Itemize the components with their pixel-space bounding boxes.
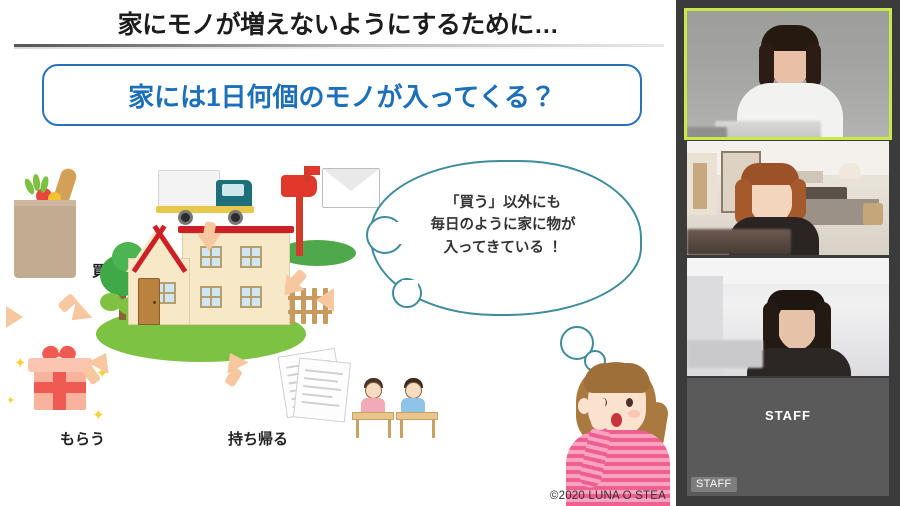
participant-2-hair-right bbox=[792, 179, 806, 219]
slide-title: 家にモノが増えないようにするために… bbox=[0, 4, 676, 42]
truck-cargo bbox=[158, 170, 220, 208]
room-stool bbox=[863, 203, 883, 225]
window-upper-right bbox=[240, 246, 262, 268]
participant-tile-2[interactable] bbox=[687, 141, 889, 255]
desk-1-leg-r bbox=[388, 420, 391, 438]
mailbox-body bbox=[281, 175, 317, 197]
desk-1-leg-l bbox=[356, 420, 359, 438]
truck-wheel-rear bbox=[178, 210, 193, 225]
desk-2-leg-r bbox=[432, 420, 435, 438]
desk-2-leg-l bbox=[400, 420, 403, 438]
participant-3-video bbox=[687, 258, 889, 376]
participant-tile-3[interactable] bbox=[687, 258, 889, 376]
participant-1-video bbox=[687, 11, 889, 137]
desk-2-top bbox=[396, 412, 438, 420]
thought-bubble-text: 「買う」以外にも 毎日のように家に物が 入ってきている ！ bbox=[378, 192, 628, 259]
participant-1-hair-right bbox=[806, 43, 821, 87]
window-lower-left bbox=[200, 286, 222, 308]
paper-sheet-front bbox=[293, 357, 351, 422]
house-door bbox=[138, 278, 160, 325]
girl-mouth bbox=[611, 413, 622, 427]
girl-cheek-right bbox=[628, 410, 640, 418]
label-bring-home: 持ち帰る bbox=[228, 428, 288, 449]
house-eave bbox=[178, 226, 294, 233]
truck-wheel-front bbox=[228, 210, 243, 225]
title-divider-shadow bbox=[14, 47, 664, 49]
participant-tile-1[interactable] bbox=[687, 11, 889, 137]
question-box-text: 家には1日何個のモノが入ってくる？ bbox=[128, 77, 556, 114]
girl-eye-right bbox=[626, 398, 633, 407]
presentation-slide: 家にモノが増えないようにするために… 家には1日何個のモノが入ってくる？ 買う bbox=[0, 0, 676, 506]
participant-3-laptop bbox=[687, 340, 763, 368]
illustration-canvas: 買う 届く bbox=[0, 130, 676, 506]
participant-1-desk bbox=[687, 127, 727, 137]
participant-1-hair-left bbox=[759, 43, 774, 87]
girl-bangs bbox=[584, 363, 650, 393]
bubble-line-2: 毎日のように家に物が bbox=[378, 214, 628, 236]
screen-root: 家にモノが増えないようにするために… 家には1日何個のモノが入ってくる？ 買う bbox=[0, 0, 900, 506]
participant-2-video bbox=[687, 141, 889, 255]
bubble-line-1: 「買う」以外にも bbox=[378, 192, 628, 214]
bubble-line-3: 入ってきている ！ bbox=[378, 237, 628, 259]
truck-window bbox=[222, 184, 244, 196]
room-lamp bbox=[839, 163, 861, 179]
desk-1-top bbox=[352, 412, 394, 420]
question-box: 家には1日何個のモノが入ってくる？ bbox=[42, 64, 642, 126]
student-2-head bbox=[405, 382, 422, 399]
staff-center-label: STAFF bbox=[687, 408, 889, 423]
window-lower-right bbox=[240, 286, 262, 308]
room-wood-panel bbox=[693, 163, 707, 209]
staff-name-badge: STAFF bbox=[691, 477, 737, 492]
participant-1-laptop bbox=[715, 121, 821, 137]
envelope-icon bbox=[322, 168, 380, 208]
video-participants-panel: STAFF STAFF bbox=[676, 0, 900, 506]
mailbox-post bbox=[296, 192, 303, 256]
participant-2-laptop bbox=[687, 229, 791, 255]
copyright-text: ©2020 LUNA O STEA bbox=[550, 490, 666, 502]
participant-tile-staff[interactable]: STAFF STAFF bbox=[687, 378, 889, 496]
bag-body bbox=[14, 206, 76, 278]
label-receive: もらう bbox=[60, 428, 105, 449]
house-roof-edge bbox=[122, 226, 194, 276]
mailbox-flag bbox=[308, 166, 320, 175]
student-1-head bbox=[365, 382, 382, 399]
